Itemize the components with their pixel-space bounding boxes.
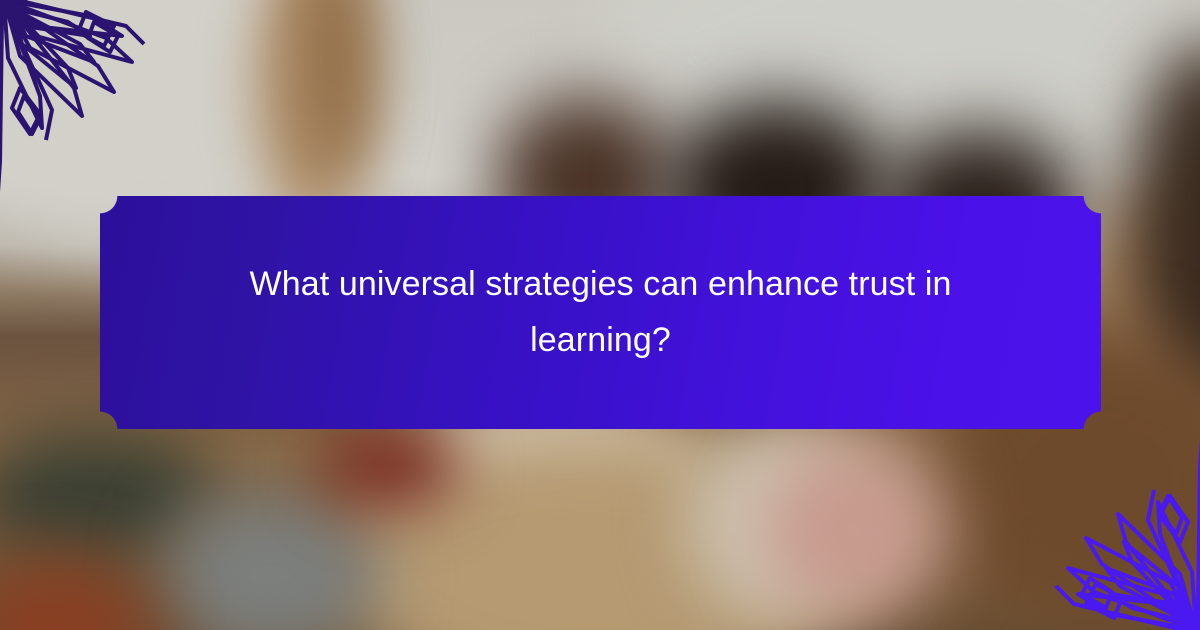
background-blob-rust-accent — [320, 420, 460, 510]
question-banner: What universal strategies can enhance tr… — [100, 196, 1101, 429]
quote-card-canvas: What universal strategies can enhance tr… — [0, 0, 1200, 630]
background-blob-floral — [760, 440, 950, 620]
question-text: What universal strategies can enhance tr… — [176, 257, 1026, 367]
